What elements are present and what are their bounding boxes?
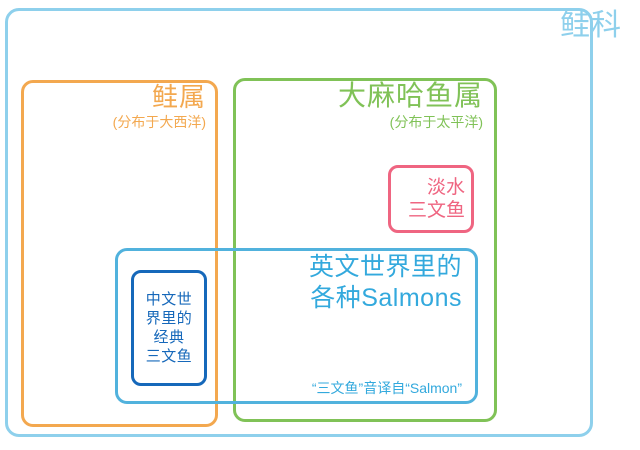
freshwater-salmon-line2: 三文鱼 (408, 199, 465, 222)
classic-chinese-salmon-line3: 经典 (153, 328, 184, 347)
classic-chinese-salmon-line1: 中文世 (146, 290, 193, 309)
freshwater-salmon-line1: 淡水 (427, 176, 465, 199)
diagram-canvas: 鲑科 鲑属 (分布于大西洋) 大麻哈鱼属 (分布于太平洋) 英文世界里的 各种S… (0, 0, 640, 450)
freshwater-salmon-box: 淡水 三文鱼 (388, 165, 474, 233)
classic-chinese-salmon-line4: 三文鱼 (146, 347, 193, 366)
family-title-label: 鲑科 (560, 10, 622, 42)
classic-chinese-salmon-box: 中文世 界里的 经典 三文鱼 (131, 270, 207, 386)
classic-chinese-salmon-line2: 界里的 (146, 309, 193, 328)
